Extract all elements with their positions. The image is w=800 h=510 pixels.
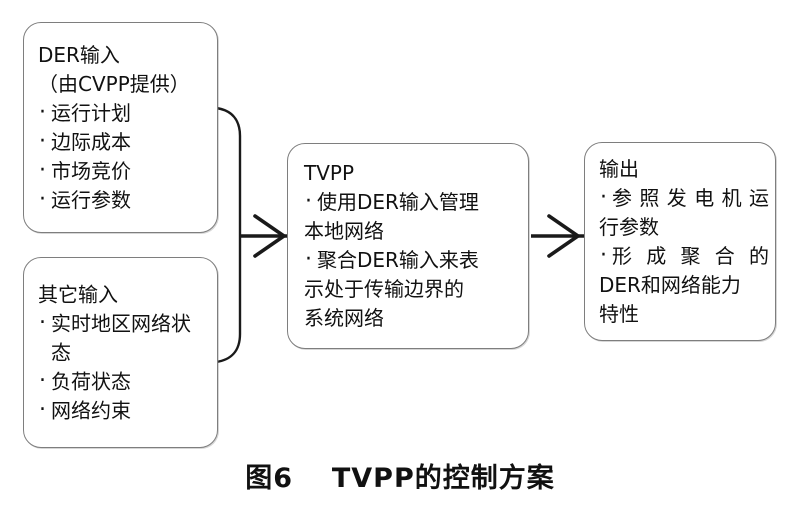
node-output-content: 输出 参照发电机运 行参数 形成聚合的 DER和网络能力 特性 — [585, 155, 775, 329]
node-der-input-bullets: 运行计划 边际成本 市场竞价 运行参数 — [38, 99, 207, 215]
list-item-line: 使用DER输入管理 — [317, 190, 479, 214]
list-item: 边际成本 — [38, 128, 207, 157]
list-item: 使用DER输入管理 本地网络 — [304, 188, 520, 246]
list-item-line: 形成聚合的 — [612, 242, 769, 271]
list-item: 形成聚合的 DER和网络能力 特性 — [599, 242, 769, 329]
node-tvpp-content: TVPP 使用DER输入管理 本地网络 聚合DER输入来表 示处于传输边界的 系… — [288, 159, 528, 333]
figure-caption-label: 图6 — [245, 463, 293, 494]
list-item: 运行参数 — [38, 186, 207, 215]
figure-canvas: DER输入 （由CVPP提供） 运行计划 边际成本 市场竞价 运行参数 其它输入… — [0, 0, 800, 510]
tvpp-to-output-connector — [531, 216, 584, 256]
merge-connector — [216, 108, 290, 362]
list-item: 运行计划 — [38, 99, 207, 128]
list-item-line: 系统网络 — [304, 304, 520, 333]
node-tvpp-title: TVPP — [304, 159, 520, 188]
node-output-title: 输出 — [599, 155, 769, 184]
list-item: 参照发电机运 行参数 — [599, 184, 769, 242]
node-other-input-bullets: 实时地区网络状态 负荷状态 网络约束 — [38, 309, 207, 425]
node-der-input[interactable]: DER输入 （由CVPP提供） 运行计划 边际成本 市场竞价 运行参数 — [23, 22, 218, 233]
node-tvpp-bullets: 使用DER输入管理 本地网络 聚合DER输入来表 示处于传输边界的 系统网络 — [304, 188, 520, 333]
node-der-input-content: DER输入 （由CVPP提供） 运行计划 边际成本 市场竞价 运行参数 — [24, 41, 217, 215]
list-item-line: 特性 — [599, 300, 769, 329]
list-item-line: 示处于传输边界的 — [304, 275, 520, 304]
list-item-line: DER和网络能力 — [599, 271, 769, 300]
list-item-line: 参照发电机运 — [612, 184, 769, 213]
list-item-line: 行参数 — [599, 213, 769, 242]
figure-caption: 图6 TVPP的控制方案 — [0, 456, 800, 495]
list-item-line: 本地网络 — [304, 217, 520, 246]
node-other-input-content: 其它输入 实时地区网络状态 负荷状态 网络约束 — [24, 280, 217, 425]
node-other-input[interactable]: 其它输入 实时地区网络状态 负荷状态 网络约束 — [23, 257, 218, 448]
list-item: 市场竞价 — [38, 157, 207, 186]
list-item: 实时地区网络状态 — [38, 309, 207, 367]
node-output[interactable]: 输出 参照发电机运 行参数 形成聚合的 DER和网络能力 特性 — [584, 142, 776, 341]
node-der-input-title: DER输入 — [38, 41, 207, 70]
node-der-input-subtitle: （由CVPP提供） — [38, 70, 207, 99]
list-item: 网络约束 — [38, 396, 207, 425]
node-output-bullets: 参照发电机运 行参数 形成聚合的 DER和网络能力 特性 — [599, 184, 769, 329]
figure-caption-title: TVPP的控制方案 — [332, 463, 555, 494]
list-item: 负荷状态 — [38, 367, 207, 396]
list-item: 聚合DER输入来表 示处于传输边界的 系统网络 — [304, 246, 520, 333]
node-other-input-title: 其它输入 — [38, 280, 207, 309]
node-tvpp[interactable]: TVPP 使用DER输入管理 本地网络 聚合DER输入来表 示处于传输边界的 系… — [287, 143, 529, 349]
list-item-line: 聚合DER输入来表 — [317, 248, 479, 272]
